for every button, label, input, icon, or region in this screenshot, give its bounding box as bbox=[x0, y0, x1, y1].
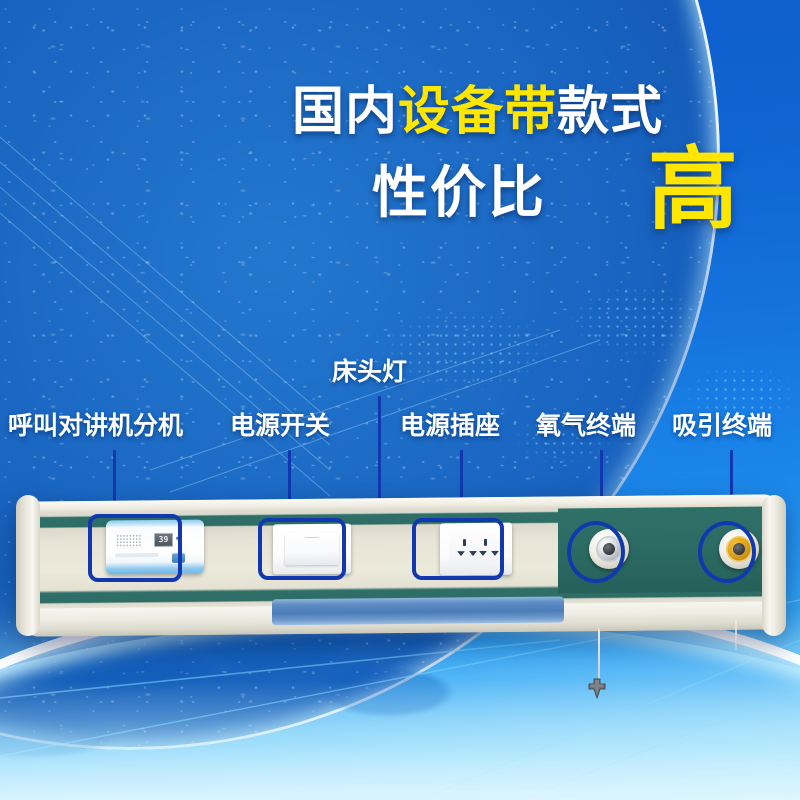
highlight-box-power-switch bbox=[258, 518, 346, 580]
product-banner: 国内设备带款式 性价比 高 呼叫对讲机分机 电源开关 床头灯 电源插座 氧气终端… bbox=[0, 0, 800, 800]
bedside-light-diffuser[interactable] bbox=[272, 596, 564, 625]
pull-cord[interactable] bbox=[598, 629, 600, 681]
panel-end-cap-left bbox=[16, 495, 40, 636]
highlight-box-intercom-extension bbox=[88, 514, 182, 582]
highlight-box-suction-terminal bbox=[698, 521, 756, 583]
callout-label-bedside-light: 床头灯 bbox=[332, 360, 407, 385]
callout-label-suction-terminal: 吸引终端 bbox=[672, 414, 772, 439]
highlight-box-power-socket bbox=[412, 518, 504, 580]
callout-label-intercom-extension: 呼叫对讲机分机 bbox=[8, 414, 183, 439]
callout-label-power-socket: 电源插座 bbox=[400, 414, 500, 439]
callout-label-oxygen-terminal: 氧气终端 bbox=[536, 414, 636, 439]
highlight-box-oxygen-terminal bbox=[567, 521, 625, 583]
suction-hose-line bbox=[735, 620, 737, 650]
callout-group: 呼叫对讲机分机 电源开关 床头灯 电源插座 氧气终端 吸引终端 bbox=[0, 0, 800, 800]
cord-weight-cross-icon bbox=[586, 678, 608, 700]
panel-end-cap-right bbox=[762, 495, 786, 636]
callout-label-power-switch: 电源开关 bbox=[230, 414, 330, 439]
